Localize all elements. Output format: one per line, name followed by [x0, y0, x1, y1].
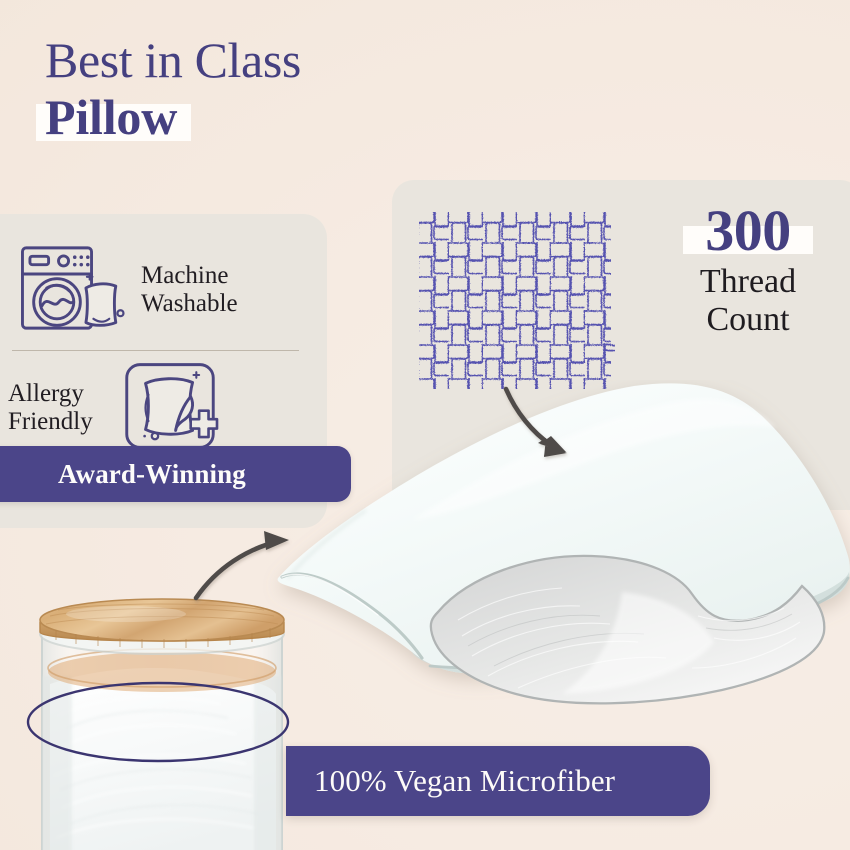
- thread-count-number: 300: [705, 202, 791, 260]
- thread-count-text: 300 Thread Count: [648, 202, 848, 339]
- award-winning-banner: Award-Winning: [0, 446, 351, 502]
- headline-line1: Best in Class: [45, 34, 301, 86]
- thread-count-words: Thread Count: [648, 263, 848, 339]
- feature-label-line2: Washable: [141, 290, 238, 319]
- award-winning-label: Award-Winning: [58, 459, 246, 490]
- thread-count-word-thread: Thread: [648, 263, 848, 301]
- infographic-canvas: 300 Thread Count: [0, 0, 850, 850]
- washing-machine-icon: [15, 236, 127, 345]
- pillow-image: [262, 380, 850, 710]
- feature-machine-washable: Machine Washable: [15, 232, 295, 348]
- allergy-friendly-icon: [121, 359, 219, 458]
- feature-label-line2: Friendly: [8, 408, 93, 437]
- feature-label-line1: Allergy: [8, 380, 93, 409]
- thread-count-number-wrap: 300: [705, 202, 791, 260]
- headline: Best in Class Pillow: [45, 34, 301, 145]
- thread-count-word-count: Count: [648, 301, 848, 339]
- feature-label-allergy-friendly: Allergy Friendly: [8, 380, 93, 437]
- feature-label-line1: Machine: [141, 262, 238, 291]
- feature-label-machine-washable: Machine Washable: [141, 262, 238, 319]
- feature-divider: [12, 350, 299, 351]
- headline-line2: Pillow: [45, 90, 177, 145]
- fill-jar-image: [6, 576, 326, 850]
- woven-fabric-swatch-icon: [415, 208, 615, 393]
- feature-allergy-friendly: Allergy Friendly: [8, 358, 296, 458]
- vegan-microfiber-banner: 100% Vegan Microfiber: [286, 746, 710, 816]
- headline-line2-wrap: Pillow: [45, 90, 177, 145]
- vegan-microfiber-label: 100% Vegan Microfiber: [314, 763, 615, 799]
